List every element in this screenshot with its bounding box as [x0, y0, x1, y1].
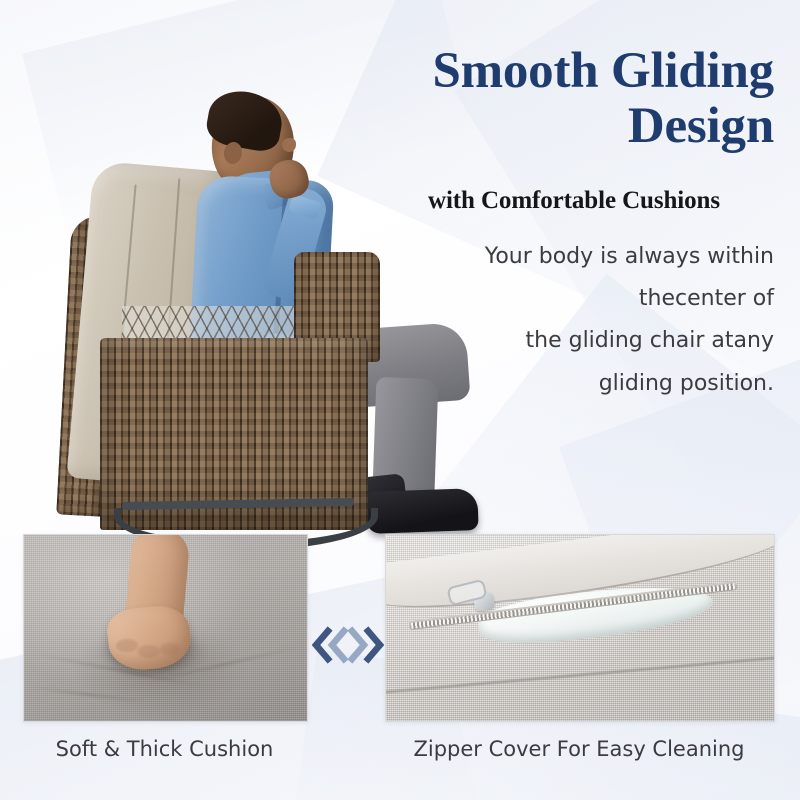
feature-panel-zipper-cover	[385, 534, 775, 722]
body-copy: Your body is always within thecenter of …	[404, 236, 774, 405]
zipper-cushion-photo	[386, 535, 774, 721]
knuckle-2	[138, 645, 160, 658]
knuckle-3	[160, 643, 180, 655]
feature-panel-soft-cushion	[23, 534, 308, 722]
chevron-icon	[312, 626, 384, 664]
caption-zipper-cover: Zipper Cover For Easy Cleaning	[385, 737, 773, 761]
body-line-4: gliding position.	[404, 363, 774, 405]
double-chevron-divider	[312, 626, 384, 664]
headline-line-2: Design	[344, 99, 774, 154]
knuckle-1	[116, 639, 138, 652]
subheading: with Comfortable Cushions	[374, 187, 774, 215]
body-line-3: the gliding chair atany	[404, 320, 774, 362]
marketing-infographic: Smooth Gliding Design with Comfortable C…	[0, 0, 800, 800]
headline-line-1: Smooth Gliding	[344, 44, 774, 99]
page-title: Smooth Gliding Design	[344, 44, 774, 153]
model-shoe-front	[365, 488, 478, 534]
body-line-1: Your body is always within	[404, 236, 774, 278]
caption-soft-cushion: Soft & Thick Cushion	[23, 737, 306, 761]
model-nose	[282, 138, 296, 152]
cushion-fabric-photo	[24, 535, 307, 721]
body-line-2: thecenter of	[404, 278, 774, 320]
